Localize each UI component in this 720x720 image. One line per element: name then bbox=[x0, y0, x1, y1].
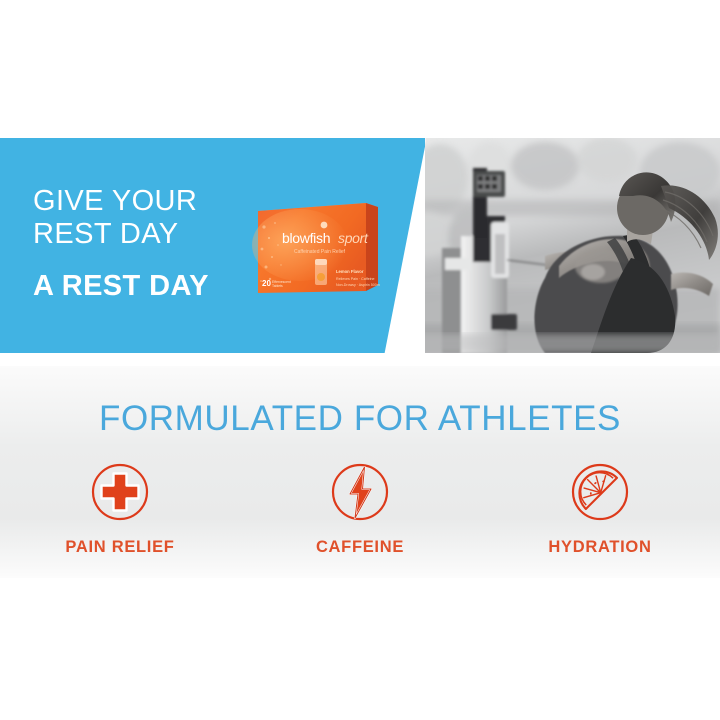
feature-pain-relief: PAIN RELIEF bbox=[0, 462, 240, 562]
hero-headline-line1: GIVE YOUR bbox=[33, 185, 197, 217]
hero-photo bbox=[425, 138, 720, 353]
product-box-image: blowfish sport Caffeinated Pain Relief 2… bbox=[248, 193, 380, 301]
feature-caffeine: CAFFEINE bbox=[240, 462, 480, 562]
hero-banner: GIVE YOURREST DAY A REST DAY bbox=[0, 138, 720, 353]
lemon-wedge-icon bbox=[570, 462, 630, 522]
hero-headline-line2: REST DAY bbox=[33, 218, 179, 250]
product-brand-light: sport bbox=[338, 230, 369, 246]
hero-headline: GIVE YOURREST DAY bbox=[33, 185, 197, 251]
hero-photo-clip bbox=[425, 138, 720, 353]
lightning-bolt-icon bbox=[330, 462, 390, 522]
product-tagline: Caffeinated Pain Relief bbox=[294, 249, 346, 255]
hero-headline-bold: A REST DAY bbox=[33, 270, 209, 303]
feature-label: HYDRATION bbox=[548, 538, 651, 557]
athlete-rowing-photo bbox=[425, 138, 720, 353]
page-root: GIVE YOURREST DAY A REST DAY bbox=[0, 0, 720, 720]
feature-list: PAIN RELIEF CAFFEINE bbox=[0, 462, 720, 562]
product-brand-bold: blowfish bbox=[282, 230, 330, 246]
feature-band: FORMULATED FOR ATHLETES PAIN RELIEF CAFF… bbox=[0, 366, 720, 578]
band-title: FORMULATED FOR ATHLETES bbox=[0, 399, 720, 439]
product-count: 20 bbox=[262, 279, 271, 288]
medical-cross-icon bbox=[90, 462, 150, 522]
feature-label: CAFFEINE bbox=[316, 538, 404, 557]
product-box-svg: blowfish sport Caffeinated Pain Relief 2… bbox=[248, 193, 380, 301]
feature-label: PAIN RELIEF bbox=[65, 538, 174, 557]
product-detail-1: Relieves Pain · Caffeine bbox=[336, 277, 375, 281]
feature-hydration: HYDRATION bbox=[480, 462, 720, 562]
product-flavor: Lemon Flavor bbox=[336, 269, 364, 274]
product-count-sub2: Tablets bbox=[272, 284, 283, 288]
product-detail-2: Non-Drowsy · Aspirin 500mg bbox=[336, 283, 380, 287]
